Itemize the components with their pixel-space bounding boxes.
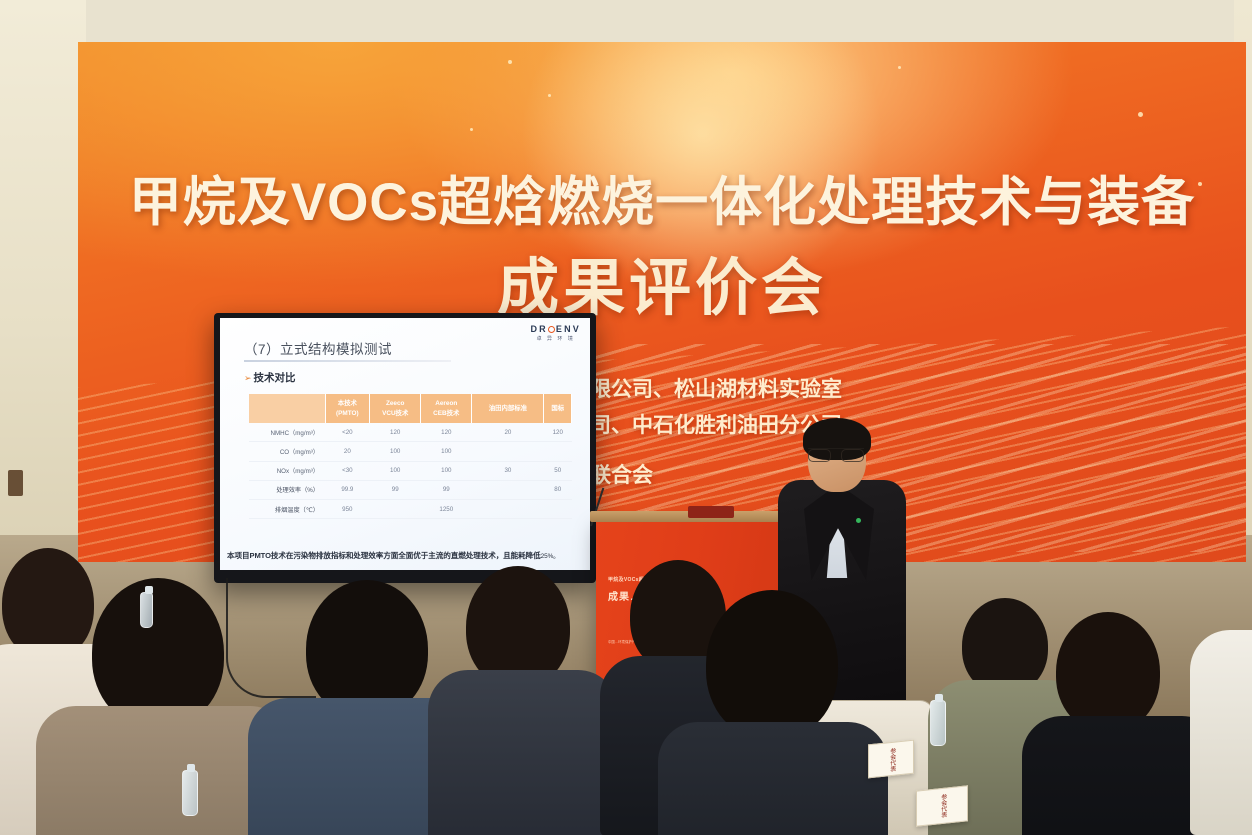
table-body: NMHC（mg/m³） <20 120 120 20 120 CO（mg/m³）… (249, 423, 572, 518)
th-col-0 (249, 394, 325, 423)
cell: 99 (421, 480, 472, 499)
presentation-slide: DRENV 卓 异 环 境 （7）立式结构模拟测试 ➢技术对比 本技术(PMTO… (220, 318, 590, 570)
technology-comparison-table: 本技术(PMTO) ZeecoVCU技术 AereonCEB技术 油田内部标准 … (249, 394, 572, 519)
cell: 80 (544, 480, 572, 499)
cell: 100 (370, 442, 421, 461)
speaker-lapel-pin (856, 518, 861, 523)
slide-section-heading: ➢技术对比 (244, 370, 296, 385)
table-row: 处理效率（%） 99.9 99 99 80 (249, 480, 572, 499)
th-line1: 本技术 (338, 400, 357, 407)
water-bottle (182, 770, 198, 816)
cell: <30 (325, 461, 370, 480)
cell: <20 (325, 423, 370, 442)
cell: 50 (544, 461, 572, 480)
cell: 99.9 (325, 480, 370, 499)
row-label: NOx（mg/m³） (249, 461, 325, 480)
conclusion-percent: 25%。 (541, 553, 560, 560)
cell (472, 499, 544, 518)
podium-object (688, 506, 734, 518)
glasses-icon (808, 448, 864, 459)
logo-subtext: 卓 异 环 境 (530, 335, 581, 342)
wall-fixture (8, 470, 23, 496)
table-header: 本技术(PMTO) ZeecoVCU技术 AereonCEB技术 油田内部标准 … (249, 394, 572, 423)
conclusion-text: 本项目PMTO技术在污染物排放指标和处理效率方面全面优于主流的直燃处理技术，且能… (227, 551, 541, 560)
left-wall (0, 0, 86, 600)
audience-head (1056, 612, 1160, 732)
cell (472, 480, 544, 499)
logo-wordmark: DRENV (530, 324, 581, 334)
audience-body (428, 670, 618, 835)
table-row: 排烟温度（℃） 950 1250 (249, 499, 572, 518)
cell (472, 442, 544, 461)
cell (544, 499, 572, 518)
th-col-5: 国标 (544, 394, 572, 423)
cell (544, 442, 572, 461)
th-col-4: 油田内部标准 (472, 394, 544, 423)
display-cable (226, 578, 316, 698)
sparkle (898, 66, 901, 69)
table-row: NOx（mg/m³） <30 100 100 30 50 (249, 461, 572, 480)
th-line2: (PMTO) (336, 410, 359, 417)
cell: 100 (421, 461, 472, 480)
th-line1: Zeeco (386, 400, 404, 407)
banner-title: 甲烷及VOCs超焓燃烧一体化处理技术与装备 (78, 160, 1246, 236)
cell: 30 (472, 461, 544, 480)
cell: 1250 (421, 499, 472, 518)
sparkle (470, 128, 473, 131)
presentation-display: DRENV 卓 异 环 境 （7）立式结构模拟测试 ➢技术对比 本技术(PMTO… (214, 313, 596, 583)
table-row: NMHC（mg/m³） <20 120 120 20 120 (249, 423, 572, 442)
cell: 20 (325, 442, 370, 461)
sparkle (1138, 112, 1143, 117)
name-card-text: 参会代表 (887, 747, 895, 774)
name-card: 参会代表 (916, 785, 968, 826)
banner-org-line-1: …有限公司、松山湖材料实验室 (548, 372, 968, 408)
logo-text-before: DR (530, 324, 547, 334)
cell: 120 (370, 423, 421, 442)
logo-circle-icon (548, 326, 555, 333)
table-header-row: 本技术(PMTO) ZeecoVCU技术 AereonCEB技术 油田内部标准 … (249, 394, 572, 423)
name-card: 参会代表 (868, 740, 914, 779)
th-col-2: ZeecoVCU技术 (370, 394, 421, 423)
table-row: CO（mg/m³） 20 100 100 (249, 442, 572, 461)
conference-scene: 甲烷及VOCs超焓燃烧一体化处理技术与装备 成果评价会 …有限公司、松山湖材料实… (0, 0, 1252, 835)
audience-body (1190, 630, 1252, 835)
row-label: NMHC（mg/m³） (249, 423, 325, 442)
th-line1: Aereon (435, 400, 457, 407)
cell: 100 (370, 461, 421, 480)
slide-title: （7）立式结构模拟测试 (244, 338, 392, 358)
th-line2: CEB技术 (433, 410, 459, 417)
sparkle (548, 94, 551, 97)
th-col-1: 本技术(PMTO) (325, 394, 370, 423)
name-card-text: 参会代表 (938, 793, 946, 820)
cell: 120 (544, 423, 572, 442)
water-bottle (140, 592, 153, 628)
row-label: 排烟温度（℃） (249, 499, 325, 518)
water-bottle (930, 700, 946, 746)
th-line2: VCU技术 (382, 410, 408, 417)
cell: 100 (421, 442, 472, 461)
slide-section-label: 技术对比 (254, 372, 296, 384)
logo-text-after: ENV (556, 324, 581, 334)
th-col-3: AereonCEB技术 (421, 394, 472, 423)
cell: 120 (421, 423, 472, 442)
cell: 99 (370, 480, 421, 499)
audience-body (658, 722, 888, 835)
cell: 20 (472, 423, 544, 442)
company-logo: DRENV 卓 异 环 境 (530, 324, 581, 342)
row-label: 处理效率（%） (249, 480, 325, 499)
slide-conclusion: 本项目PMTO技术在污染物排放指标和处理效率方面全面优于主流的直燃处理技术，且能… (227, 551, 583, 561)
row-label: CO（mg/m³） (249, 442, 325, 461)
bullet-arrow-icon: ➢ (244, 373, 252, 383)
slide-title-divider (244, 360, 451, 362)
cell (370, 499, 421, 518)
cell: 950 (325, 499, 370, 518)
sparkle (508, 60, 512, 64)
audience-head (706, 590, 838, 740)
